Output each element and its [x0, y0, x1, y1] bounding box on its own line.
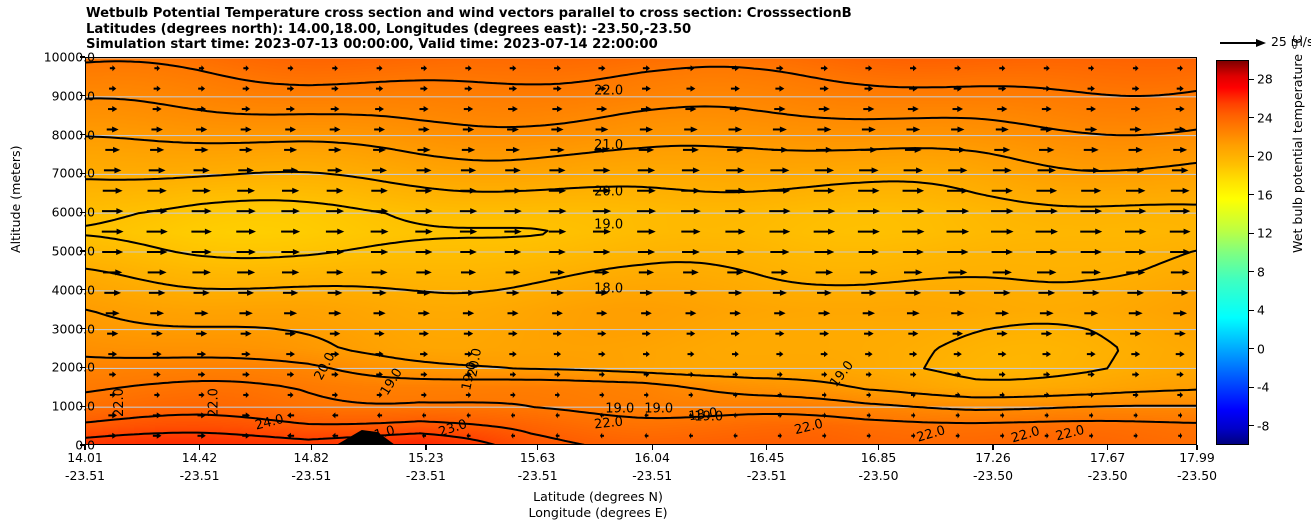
colorbar-tick-mark	[1249, 117, 1254, 118]
x-axis-tick-label-longitude: -23.51	[406, 468, 446, 483]
svg-text:22.0: 22.0	[594, 83, 623, 98]
contours-and-wind-vectors: 22.021.020.019.018.020.019.019.020.019.0…	[86, 58, 1197, 445]
svg-text:24.0: 24.0	[254, 412, 286, 434]
svg-text:22.0: 22.0	[593, 415, 623, 433]
title-line-1: Wetbulb Potential Temperature cross sect…	[86, 6, 1186, 22]
x-axis-tick-label-latitude: 17.26	[975, 450, 1010, 465]
x-axis-tick-label-latitude: 14.82	[294, 450, 329, 465]
colorbar	[1216, 60, 1249, 445]
colorbar-tick-mark	[1249, 271, 1254, 272]
colorbar-label: Wet bulb potential temperature °C	[1290, 35, 1305, 253]
y-axis-tick-label: 4000.0	[52, 282, 95, 297]
x-axis-tick-label-latitude: 14.01	[67, 450, 102, 465]
x-axis-tick-label-longitude: -23.51	[180, 468, 220, 483]
x-axis-tick-label-longitude: -23.51	[632, 468, 672, 483]
cross-section-plot: 22.021.020.019.018.020.019.019.020.019.0…	[85, 57, 1197, 445]
y-axis-tick-label: 10000.0	[44, 50, 95, 65]
x-axis-tick-label-longitude: -23.50	[973, 468, 1013, 483]
y-axis-tick-label: 8000.0	[52, 127, 95, 142]
colorbar-tick-label: 16	[1257, 187, 1273, 202]
colorbar-tick-label: 4	[1257, 303, 1265, 318]
svg-text:19.0: 19.0	[594, 217, 623, 232]
colorbar-tick-mark	[1249, 156, 1254, 157]
x-axis-tick-label-longitude: -23.50	[859, 468, 899, 483]
colorbar-tick-label: 24	[1257, 110, 1273, 125]
svg-text:19.0: 19.0	[378, 366, 406, 399]
x-axis-tick-label-longitude: -23.51	[747, 468, 787, 483]
y-axis-tick-label: 3000.0	[52, 321, 95, 336]
svg-text:22.0: 22.0	[793, 417, 825, 439]
svg-text:22.0: 22.0	[206, 388, 221, 417]
svg-text:18.0: 18.0	[594, 281, 623, 296]
y-axis-tick-label: 1000.0	[52, 399, 95, 414]
colorbar-tick-label: 0	[1257, 341, 1265, 356]
x-axis-tick-label-latitude: 15.23	[408, 450, 443, 465]
x-axis-tick-label-latitude: 14.42	[182, 450, 217, 465]
x-axis-tick-label-latitude: 16.85	[861, 450, 896, 465]
svg-text:19.0: 19.0	[694, 409, 723, 424]
colorbar-tick-mark	[1249, 310, 1254, 311]
x-axis-tick-label-longitude: -23.50	[1088, 468, 1128, 483]
colorbar-tick-label: 8	[1257, 264, 1265, 279]
colorbar-tick-label: 12	[1257, 226, 1273, 241]
x-axis-label-longitude: Longitude (degrees E)	[0, 505, 1311, 520]
colorbar-tick-mark	[1249, 79, 1254, 80]
svg-text:22.0: 22.0	[1054, 423, 1086, 445]
x-axis-tick-label-longitude: -23.51	[518, 468, 558, 483]
x-axis-tick-label-latitude: 15.63	[520, 450, 555, 465]
x-axis-label-latitude: Latitude (degrees N)	[0, 489, 1311, 504]
colorbar-tick-label: -8	[1257, 418, 1269, 433]
svg-text:22.0: 22.0	[915, 423, 947, 445]
y-axis-label: Altitude (meters)	[8, 146, 23, 253]
title-line-2: Latitudes (degrees north): 14.00,18.00, …	[86, 22, 1186, 38]
x-axis-tick-label-longitude: -23.51	[291, 468, 331, 483]
svg-text:19.0: 19.0	[644, 402, 673, 417]
svg-text:22.0: 22.0	[1010, 424, 1042, 445]
colorbar-tick-mark	[1249, 425, 1254, 426]
y-axis-tick-label: 2000.0	[52, 360, 95, 375]
y-axis-tick-label: 9000.0	[52, 88, 95, 103]
svg-text:20.0: 20.0	[594, 184, 623, 199]
y-axis-tick-label: 7000.0	[52, 166, 95, 181]
x-axis-label-latitude-text: Latitude (degrees N)	[533, 489, 663, 504]
title-line-3: Simulation start time: 2023-07-13 00:00:…	[86, 37, 1186, 53]
x-axis-label-longitude-text: Longitude (degrees E)	[528, 505, 667, 520]
colorbar-tick-mark	[1249, 194, 1254, 195]
y-axis-tick-label: 6000.0	[52, 205, 95, 220]
x-axis-tick-label-latitude: 17.67	[1090, 450, 1125, 465]
svg-text:19.0: 19.0	[827, 358, 857, 390]
x-axis-tick-label-latitude: 16.04	[634, 450, 669, 465]
title-block: Wetbulb Potential Temperature cross sect…	[86, 6, 1186, 53]
y-axis-tick-label: 5000.0	[52, 244, 95, 259]
colorbar-tick-mark	[1249, 387, 1254, 388]
x-axis-tick-label-longitude: -23.51	[65, 468, 105, 483]
x-axis-tick-label-latitude: 16.45	[749, 450, 784, 465]
x-axis-tick-label-latitude: 17.99	[1179, 450, 1214, 465]
colorbar-tick-label: 28	[1257, 72, 1273, 87]
colorbar-tick-mark	[1249, 233, 1254, 234]
colorbar-tick-mark	[1249, 348, 1254, 349]
x-axis-tick-label-longitude: -23.50	[1177, 468, 1217, 483]
colorbar-tick-label: -4	[1257, 380, 1269, 395]
colorbar-tick-label: 20	[1257, 149, 1273, 164]
svg-text:22.0: 22.0	[112, 388, 127, 417]
